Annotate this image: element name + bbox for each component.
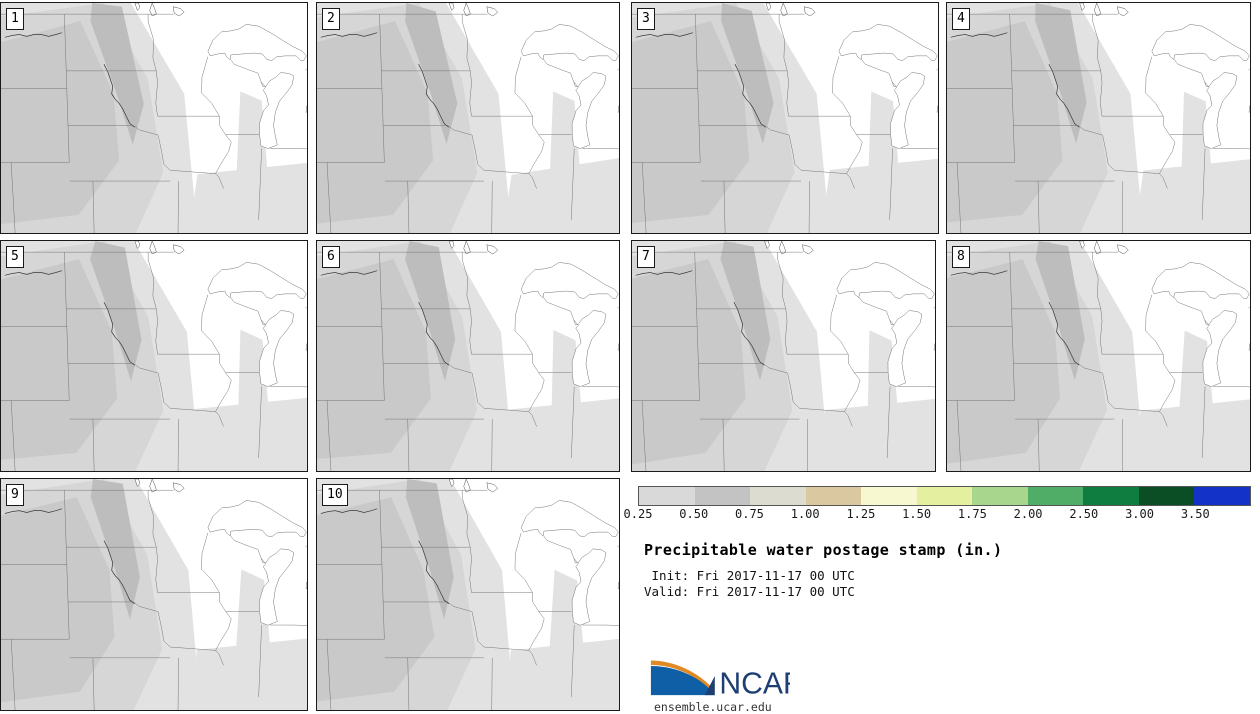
colorbar-tick-1.75: 1.75 bbox=[958, 507, 987, 521]
colorbar-segment-1 bbox=[695, 487, 751, 505]
map-panel-8[interactable]: 8 bbox=[946, 240, 1251, 472]
colorbar-segment-8 bbox=[1083, 487, 1139, 505]
colorbar-tick-1.25: 1.25 bbox=[846, 507, 875, 521]
map-panel-5[interactable]: 5 bbox=[0, 240, 308, 472]
map-canvas-2 bbox=[317, 3, 619, 233]
colorbar-tick-1.00: 1.00 bbox=[791, 507, 820, 521]
map-panel-10[interactable]: 10 bbox=[316, 478, 620, 711]
map-canvas-8 bbox=[947, 241, 1250, 471]
colorbar-tick-1.50: 1.50 bbox=[902, 507, 931, 521]
panel-number-badge-5: 5 bbox=[6, 246, 24, 268]
map-canvas-7 bbox=[632, 241, 935, 471]
map-panel-3[interactable]: 3 bbox=[631, 2, 939, 234]
ncar-logo-mark: NCAR bbox=[650, 655, 790, 697]
ncar-logo-wordmark: NCAR bbox=[719, 667, 790, 697]
panel-number-badge-8: 8 bbox=[952, 246, 970, 268]
colorbar-tick-0.75: 0.75 bbox=[735, 507, 764, 521]
colorbar-segment-10 bbox=[1194, 487, 1250, 505]
colorbar-tick-3.50: 3.50 bbox=[1181, 507, 1210, 521]
map-panel-9[interactable]: 9 bbox=[0, 478, 308, 711]
panel-number-badge-1: 1 bbox=[6, 8, 24, 30]
colorbar-tick-0.25: 0.25 bbox=[624, 507, 653, 521]
map-canvas-3 bbox=[632, 3, 938, 233]
map-panel-7[interactable]: 7 bbox=[631, 240, 936, 472]
map-canvas-5 bbox=[1, 241, 307, 471]
postage-stamp-figure: 12345678910 0.250.500.751.001.251.501.75… bbox=[0, 0, 1260, 713]
colorbar-tick-0.50: 0.50 bbox=[679, 507, 708, 521]
figure-metadata: Init: Fri 2017-11-17 00 UTC Valid: Fri 2… bbox=[644, 568, 855, 600]
panel-number-badge-6: 6 bbox=[322, 246, 340, 268]
panel-number-badge-3: 3 bbox=[637, 8, 655, 30]
map-panel-4[interactable]: 4 bbox=[946, 2, 1251, 234]
colorbar-segment-3 bbox=[806, 487, 862, 505]
map-canvas-10 bbox=[317, 479, 619, 710]
panel-number-badge-2: 2 bbox=[322, 8, 340, 30]
map-panel-6[interactable]: 6 bbox=[316, 240, 620, 472]
colorbar-segment-4 bbox=[861, 487, 917, 505]
panel-number-badge-7: 7 bbox=[637, 246, 655, 268]
colorbar-segment-6 bbox=[972, 487, 1028, 505]
colorbar-segment-0 bbox=[639, 487, 695, 505]
map-canvas-1 bbox=[1, 3, 307, 233]
colorbar-segment-9 bbox=[1139, 487, 1195, 505]
colorbar-tick-2.00: 2.00 bbox=[1014, 507, 1043, 521]
colorbar bbox=[638, 486, 1251, 506]
panel-number-badge-10: 10 bbox=[322, 484, 348, 506]
map-panel-1[interactable]: 1 bbox=[0, 2, 308, 234]
ncar-logo-url: ensemble.ucar.edu bbox=[654, 700, 772, 714]
map-canvas-6 bbox=[317, 241, 619, 471]
colorbar-tick-2.50: 2.50 bbox=[1069, 507, 1098, 521]
panel-number-badge-4: 4 bbox=[952, 8, 970, 30]
map-canvas-4 bbox=[947, 3, 1250, 233]
colorbar-segment-2 bbox=[750, 487, 806, 505]
map-panel-2[interactable]: 2 bbox=[316, 2, 620, 234]
map-canvas-9 bbox=[1, 479, 307, 710]
panel-number-badge-9: 9 bbox=[6, 484, 24, 506]
figure-title: Precipitable water postage stamp (in.) bbox=[644, 541, 1002, 559]
colorbar-tick-labels: 0.250.500.751.001.251.501.752.002.503.00… bbox=[638, 507, 1251, 523]
colorbar-segment-7 bbox=[1028, 487, 1084, 505]
colorbar-tick-3.00: 3.00 bbox=[1125, 507, 1154, 521]
colorbar-segment-5 bbox=[917, 487, 973, 505]
